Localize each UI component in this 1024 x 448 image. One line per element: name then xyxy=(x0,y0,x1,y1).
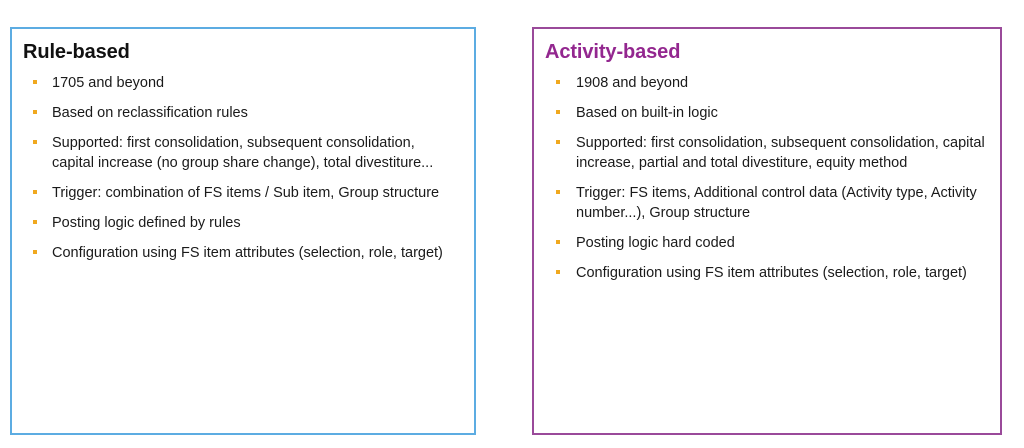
list-item: Trigger: combination of FS items / Sub i… xyxy=(23,183,460,203)
square-bullet-icon xyxy=(556,190,560,194)
list-item-text: Posting logic hard coded xyxy=(576,233,990,253)
list-item: Posting logic defined by rules xyxy=(23,213,460,233)
list-item-text: Based on built-in logic xyxy=(576,103,990,123)
list-item: Posting logic hard coded xyxy=(545,233,990,253)
square-bullet-icon xyxy=(556,140,560,144)
list-item-text: Supported: first consolidation, subseque… xyxy=(576,133,990,173)
list-item: 1705 and beyond xyxy=(23,73,460,93)
square-bullet-icon xyxy=(556,270,560,274)
square-bullet-icon xyxy=(33,110,37,114)
panel-title-rule-based: Rule-based xyxy=(12,29,474,64)
list-item: Trigger: FS items, Additional control da… xyxy=(545,183,990,223)
list-item-text: Posting logic defined by rules xyxy=(52,213,460,233)
bullet-list-rule-based: 1705 and beyond Based on reclassificatio… xyxy=(12,64,474,263)
list-item-text: 1908 and beyond xyxy=(576,73,990,93)
list-item-text: Trigger: combination of FS items / Sub i… xyxy=(52,183,460,203)
slide-canvas: Rule-based 1705 and beyond Based on recl… xyxy=(0,0,1024,448)
panel-rule-based: Rule-based 1705 and beyond Based on recl… xyxy=(10,27,476,435)
list-item-text: Configuration using FS item attributes (… xyxy=(52,243,460,263)
list-item-text: Trigger: FS items, Additional control da… xyxy=(576,183,990,223)
square-bullet-icon xyxy=(556,240,560,244)
square-bullet-icon xyxy=(556,80,560,84)
list-item-text: Supported: first consolidation, subseque… xyxy=(52,133,460,173)
list-item: Supported: first consolidation, subseque… xyxy=(23,133,460,173)
list-item: Based on reclassification rules xyxy=(23,103,460,123)
list-item-text: Based on reclassification rules xyxy=(52,103,460,123)
square-bullet-icon xyxy=(33,220,37,224)
list-item-text: 1705 and beyond xyxy=(52,73,460,93)
list-item-text: Configuration using FS item attributes (… xyxy=(576,263,990,283)
list-item: Configuration using FS item attributes (… xyxy=(545,263,990,283)
panel-title-activity-based: Activity-based xyxy=(534,29,1000,64)
bullet-list-activity-based: 1908 and beyond Based on built-in logic … xyxy=(534,64,1000,283)
list-item: 1908 and beyond xyxy=(545,73,990,93)
square-bullet-icon xyxy=(33,250,37,254)
square-bullet-icon xyxy=(33,80,37,84)
square-bullet-icon xyxy=(33,190,37,194)
list-item: Based on built-in logic xyxy=(545,103,990,123)
list-item: Supported: first consolidation, subseque… xyxy=(545,133,990,173)
list-item: Configuration using FS item attributes (… xyxy=(23,243,460,263)
square-bullet-icon xyxy=(33,140,37,144)
square-bullet-icon xyxy=(556,110,560,114)
panel-activity-based: Activity-based 1908 and beyond Based on … xyxy=(532,27,1002,435)
